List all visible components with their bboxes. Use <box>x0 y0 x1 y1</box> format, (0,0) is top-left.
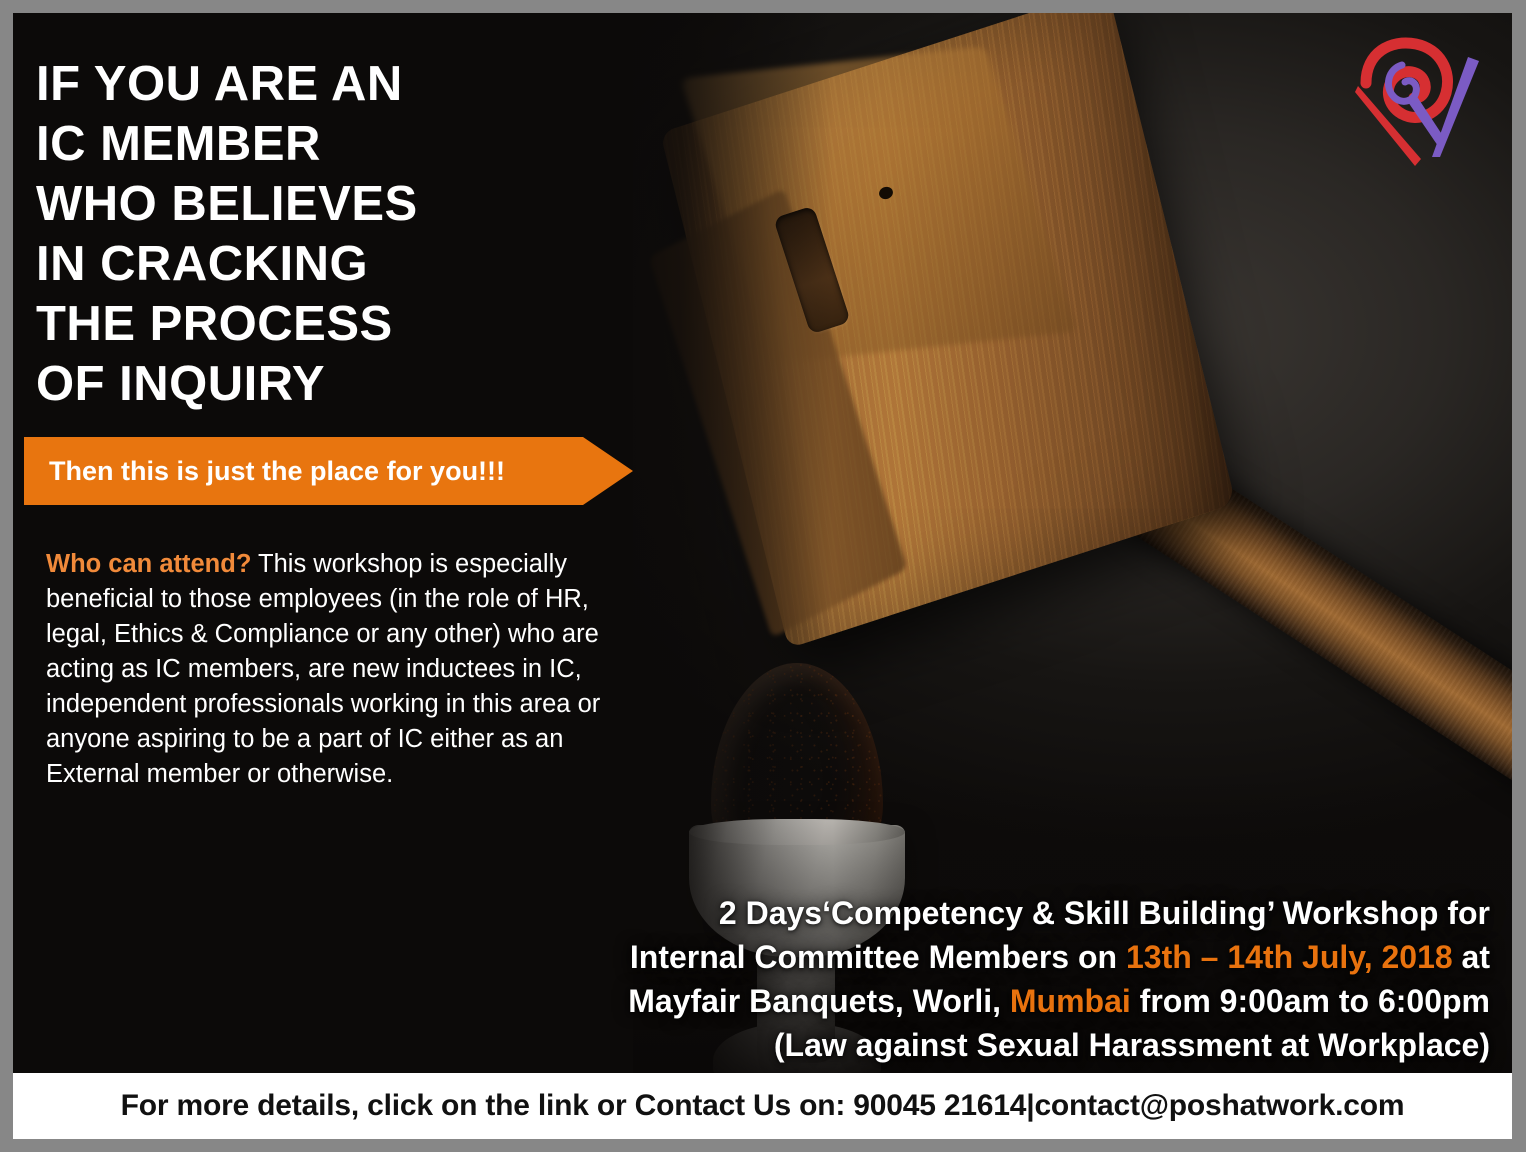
workshop-at-text: at <box>1453 939 1490 975</box>
who-can-attend-paragraph: Who can attend? This workshop is especia… <box>46 547 631 792</box>
who-can-attend-lead: Who can attend? <box>46 550 251 578</box>
workshop-venue-text: Mayfair Banquets, Worli, <box>628 983 1010 1019</box>
workshop-details: 2 Days‘Competency & Skill Building’ Work… <box>390 891 1490 1067</box>
workshop-audience-text: Internal Committee Members on <box>630 939 1126 975</box>
poster-artboard: IF YOU ARE AN IC MEMBER WHO BELIEVES IN … <box>13 13 1512 1073</box>
who-can-attend-body: This workshop is especially beneficial t… <box>46 550 600 788</box>
workshop-details-line-2: Internal Committee Members on 13th – 14t… <box>390 935 1490 979</box>
workshop-details-line-1: 2 Days‘Competency & Skill Building’ Work… <box>390 891 1490 935</box>
callout-banner-label: Then this is just the place for you!!! <box>49 456 505 487</box>
callout-banner: Then this is just the place for you!!! <box>24 437 633 505</box>
workshop-details-line-4: (Law against Sexual Harassment at Workpl… <box>390 1023 1490 1067</box>
workshop-details-line-3: Mayfair Banquets, Worli, Mumbai from 9:0… <box>390 979 1490 1023</box>
workshop-city-text: Mumbai <box>1010 983 1131 1019</box>
posh-at-work-logo <box>1342 35 1490 170</box>
page-title: IF YOU ARE AN IC MEMBER WHO BELIEVES IN … <box>36 54 696 414</box>
workshop-title-text: 2 Days‘Competency & Skill Building’ Work… <box>719 895 1490 931</box>
logo-icon <box>1342 35 1490 170</box>
workshop-date-text: 13th – 14th July, 2018 <box>1126 939 1453 975</box>
workshop-subject-text: (Law against Sexual Harassment at Workpl… <box>774 1027 1490 1063</box>
poster-frame: IF YOU ARE AN IC MEMBER WHO BELIEVES IN … <box>0 0 1526 1152</box>
contact-footer-text[interactable]: For more details, click on the link or C… <box>121 1089 1405 1123</box>
contact-footer-bar: For more details, click on the link or C… <box>13 1073 1512 1139</box>
workshop-time-text: from 9:00am to 6:00pm <box>1131 983 1490 1019</box>
